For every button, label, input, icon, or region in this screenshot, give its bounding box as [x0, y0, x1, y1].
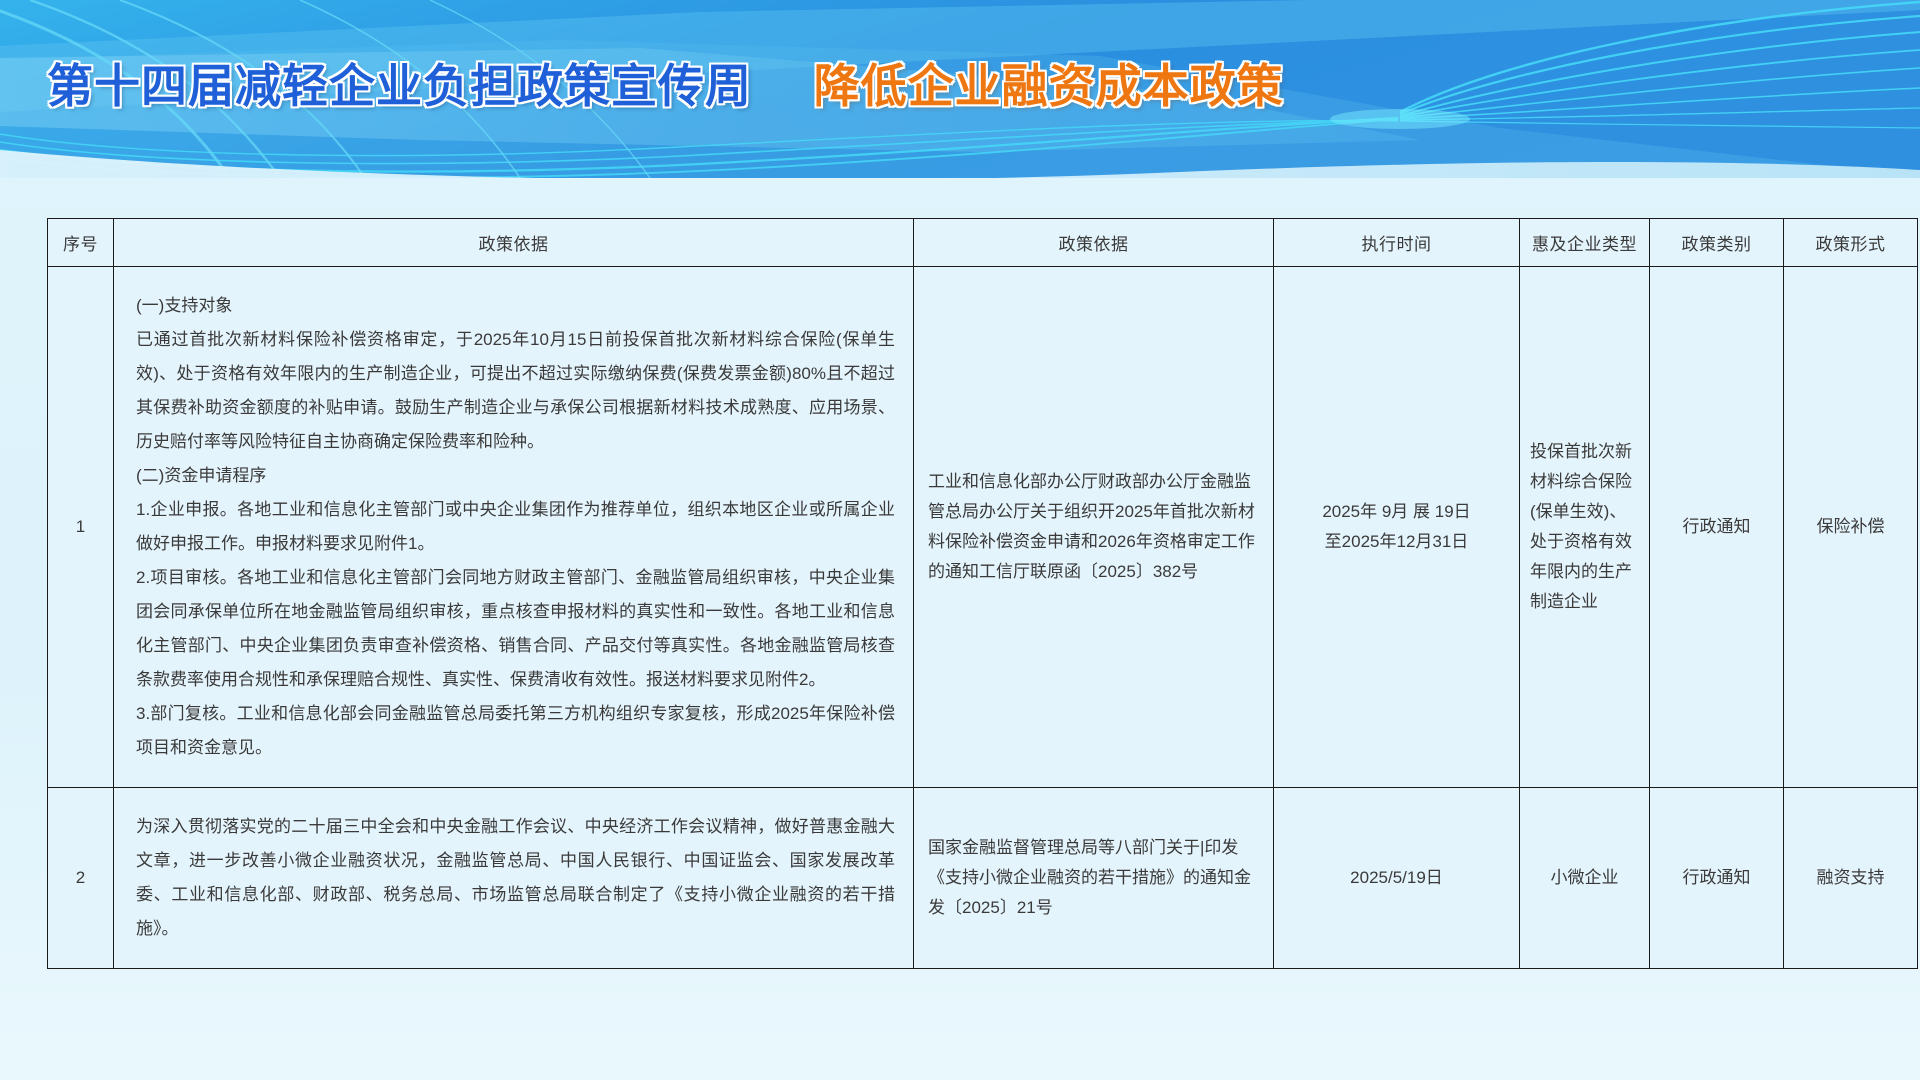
- content-line: 1.企业申报。各地工业和信息化主管部门或中央企业集团作为推荐单位，组织本地区企业…: [136, 493, 895, 561]
- cell-enterprise-type: 投保首批次新材料综合保险(保单生效)、处于资格有效年限内的生产制造企业: [1520, 267, 1650, 788]
- cell-policy-content: (一)支持对象 已通过首批次新材料保险补偿资格审定，于2025年10月15日前投…: [114, 267, 914, 788]
- content-line: 已通过首批次新材料保险补偿资格审定，于2025年10月15日前投保首批次新材料综…: [136, 323, 895, 459]
- content-line: 3.部门复核。工业和信息化部会同金融监管总局委托第三方机构组织专家复核，形成20…: [136, 697, 895, 765]
- page-banner: 第十四届减轻企业负担政策宣传周 降低企业融资成本政策: [0, 0, 1920, 178]
- cell-policy-form: 保险补偿: [1784, 267, 1918, 788]
- cell-exec-time: 2025年 9月 展 19日 至2025年12月31日: [1274, 267, 1520, 788]
- table-body: 1 (一)支持对象 已通过首批次新材料保险补偿资格审定，于2025年10月15日…: [48, 267, 1918, 969]
- cell-index: 1: [48, 267, 114, 788]
- policy-table-container: 序号 政策依据 政策依据 执行时间 惠及企业类型 政策类别 政策形式 1 (一)…: [47, 218, 1873, 969]
- cell-policy-category: 行政通知: [1650, 788, 1784, 969]
- banner-title: 第十四届减轻企业负担政策宣传周 降低企业融资成本政策: [47, 58, 1284, 114]
- column-header-index: 序号: [48, 219, 114, 267]
- table-header: 序号 政策依据 政策依据 执行时间 惠及企业类型 政策类别 政策形式: [48, 219, 1918, 267]
- table-row: 1 (一)支持对象 已通过首批次新材料保险补偿资格审定，于2025年10月15日…: [48, 267, 1918, 788]
- banner-title-sub: 降低企业融资成本政策: [814, 60, 1284, 112]
- cell-policy-content: 为深入贯彻落实党的二十届三中全会和中央金融工作会议、中央经济工作会议精神，做好普…: [114, 788, 914, 969]
- column-header-policy-content: 政策依据: [114, 219, 914, 267]
- column-header-enterprise-type: 惠及企业类型: [1520, 219, 1650, 267]
- table-header-row: 序号 政策依据 政策依据 执行时间 惠及企业类型 政策类别 政策形式: [48, 219, 1918, 267]
- column-header-policy-category: 政策类别: [1650, 219, 1784, 267]
- content-line: 2.项目审核。各地工业和信息化主管部门会同地方财政主管部门、金融监管局组织审核，…: [136, 561, 895, 697]
- column-header-policy-form: 政策形式: [1784, 219, 1918, 267]
- cell-exec-time: 2025/5/19日: [1274, 788, 1520, 969]
- cell-index: 2: [48, 788, 114, 969]
- content-line: 为深入贯彻落实党的二十届三中全会和中央金融工作会议、中央经济工作会议精神，做好普…: [136, 810, 895, 946]
- cell-policy-basis: 国家金融监督管理总局等八部门关于|印发《支持小微企业融资的若干措施》的通知金发〔…: [914, 788, 1274, 969]
- exec-time-line: 2025年 9月 展 19日: [1274, 497, 1519, 527]
- cell-policy-category: 行政通知: [1650, 267, 1784, 788]
- content-line: (二)资金申请程序: [136, 459, 895, 493]
- column-header-exec-time: 执行时间: [1274, 219, 1520, 267]
- column-header-policy-basis: 政策依据: [914, 219, 1274, 267]
- exec-time-line: 至2025年12月31日: [1274, 527, 1519, 557]
- exec-time-line: 2025/5/19日: [1274, 863, 1519, 893]
- table-row: 2 为深入贯彻落实党的二十届三中全会和中央金融工作会议、中央经济工作会议精神，做…: [48, 788, 1918, 969]
- banner-title-main: 第十四届减轻企业负担政策宣传周: [47, 60, 752, 112]
- cell-enterprise-type: 小微企业: [1520, 788, 1650, 969]
- cell-policy-form: 融资支持: [1784, 788, 1918, 969]
- content-line: (一)支持对象: [136, 289, 895, 323]
- cell-policy-basis: 工业和信息化部办公厅财政部办公厅金融监管总局办公厅关于组织开2025年首批次新材…: [914, 267, 1274, 788]
- policy-table: 序号 政策依据 政策依据 执行时间 惠及企业类型 政策类别 政策形式 1 (一)…: [47, 218, 1918, 969]
